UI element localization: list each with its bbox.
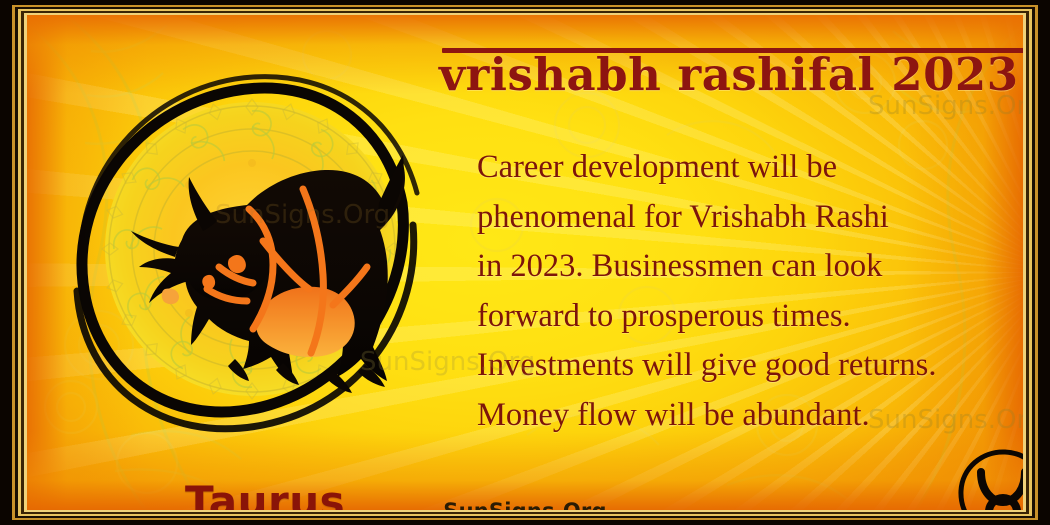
card-artboard: vrishabh rashifal 2023 Career developmen… [27, 15, 1023, 510]
body-line: Investments will give good returns. [477, 341, 1023, 391]
body-line: in 2023. Businessmen can look [477, 242, 1023, 292]
brand-label: SunSigns.Org [27, 499, 1023, 510]
taurus-bull-medallion [57, 53, 447, 443]
page-title: vrishabh rashifal 2023 [439, 39, 1023, 101]
body-line: phenomenal for Vrishabh Rashi [477, 193, 1023, 243]
page-title-text: vrishabh rashifal 2023 [439, 39, 1023, 103]
body-line: forward to prosperous times. [477, 292, 1023, 342]
taurus-glyph-badge [957, 447, 1023, 510]
body-line: Career development will be [477, 143, 1023, 193]
zodiac-horoscope-card: vrishabh rashifal 2023 Career developmen… [0, 0, 1050, 525]
body-line: Money flow will be abundant. [477, 391, 1023, 441]
horoscope-body-text: Career development will be phenomenal fo… [477, 143, 1023, 440]
